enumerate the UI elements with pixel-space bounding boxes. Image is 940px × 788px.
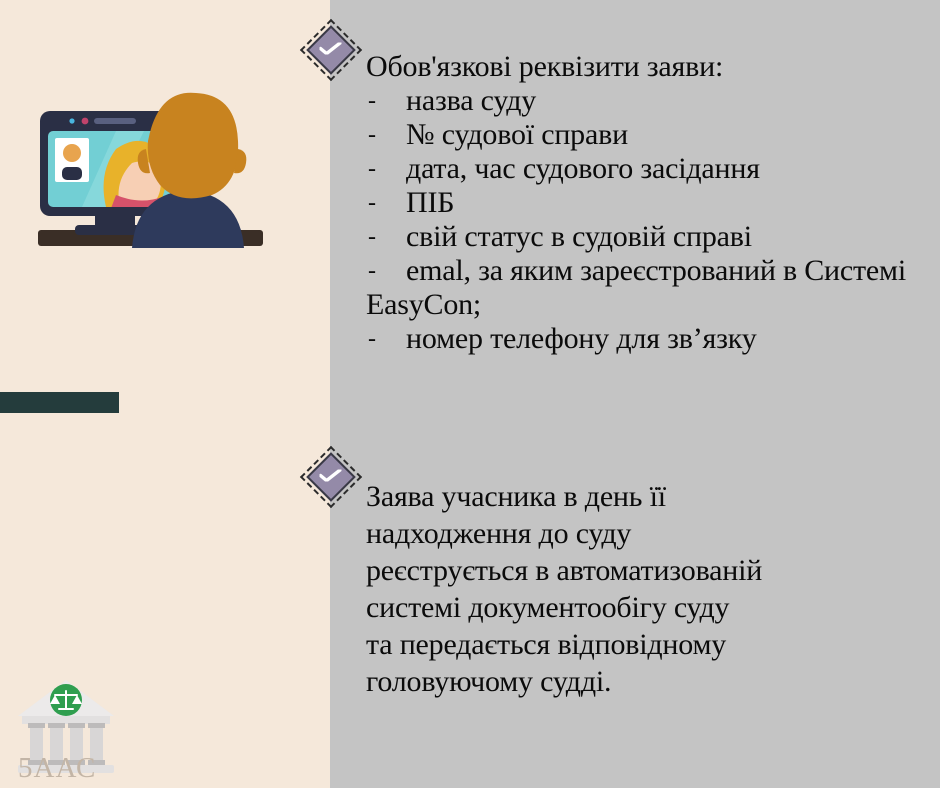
bullet-dash: - bbox=[368, 118, 376, 152]
camera-led bbox=[69, 118, 74, 123]
bullet-dash: - bbox=[368, 220, 376, 254]
list-item: - номер телефону для зв’язку bbox=[366, 322, 932, 356]
list-item: - emal, за яким зареєстрований в Системі… bbox=[366, 254, 932, 322]
logo-abbreviation: 5ААС bbox=[18, 752, 96, 784]
architrave bbox=[22, 716, 110, 724]
list-item: - свій статус в судовій справі bbox=[366, 220, 932, 254]
list-item-label: ПІБ bbox=[406, 186, 454, 219]
record-dot bbox=[82, 118, 89, 125]
registration-line: та передається відповідному bbox=[366, 626, 926, 663]
list-item-label: emal, за яким зареєстрований в Системі E… bbox=[366, 254, 906, 321]
video-call-illustration bbox=[20, 45, 300, 285]
list-item-label: № судової справи bbox=[406, 118, 628, 151]
list-item: - назва суду bbox=[366, 84, 932, 118]
registration-line: системі документообігу суду bbox=[366, 589, 926, 626]
bullet-dash: - bbox=[368, 254, 376, 288]
registration-line: головуючому судді. bbox=[366, 663, 926, 700]
check-diamond-icon bbox=[300, 19, 362, 81]
check-diamond-icon bbox=[300, 446, 362, 508]
list-item-label: назва суду bbox=[406, 84, 536, 117]
bullet-dash: - bbox=[368, 186, 376, 220]
list-item: - дата, час судового засідання bbox=[366, 152, 932, 186]
list-item: - ПІБ bbox=[366, 186, 932, 220]
list-item-label: свій статус в судовій справі bbox=[406, 220, 752, 253]
bullet-dash: - bbox=[368, 152, 376, 186]
bullet-dash: - bbox=[368, 84, 376, 118]
registration-line: Заява учасника в день її bbox=[366, 478, 926, 515]
checkmark-icon bbox=[320, 43, 342, 55]
registration-line: надходження до суду bbox=[366, 515, 926, 552]
requisites-list: - назва суду - № судової справи - дата, … bbox=[366, 84, 932, 356]
bullet-dash: - bbox=[368, 322, 376, 356]
slide-canvas: Обов'язкові реквізити заяви: - назва суд… bbox=[0, 0, 940, 788]
requisites-heading: Обов'язкові реквізити заяви: bbox=[366, 50, 932, 84]
checkmark-icon bbox=[320, 470, 342, 482]
list-item: - № судової справи bbox=[366, 118, 932, 152]
toolbar-pill bbox=[94, 118, 136, 124]
viewer-head bbox=[148, 93, 238, 199]
list-item-label: дата, час судового засідання bbox=[406, 152, 760, 185]
registration-line: реєструється в автоматизованій bbox=[366, 552, 926, 589]
requisites-block: Обов'язкові реквізити заяви: - назва суд… bbox=[366, 50, 932, 356]
list-item-label: номер телефону для зв’язку bbox=[406, 322, 757, 355]
accent-bar bbox=[0, 392, 119, 413]
registration-block: Заява учасника в день її надходження до … bbox=[366, 478, 926, 700]
